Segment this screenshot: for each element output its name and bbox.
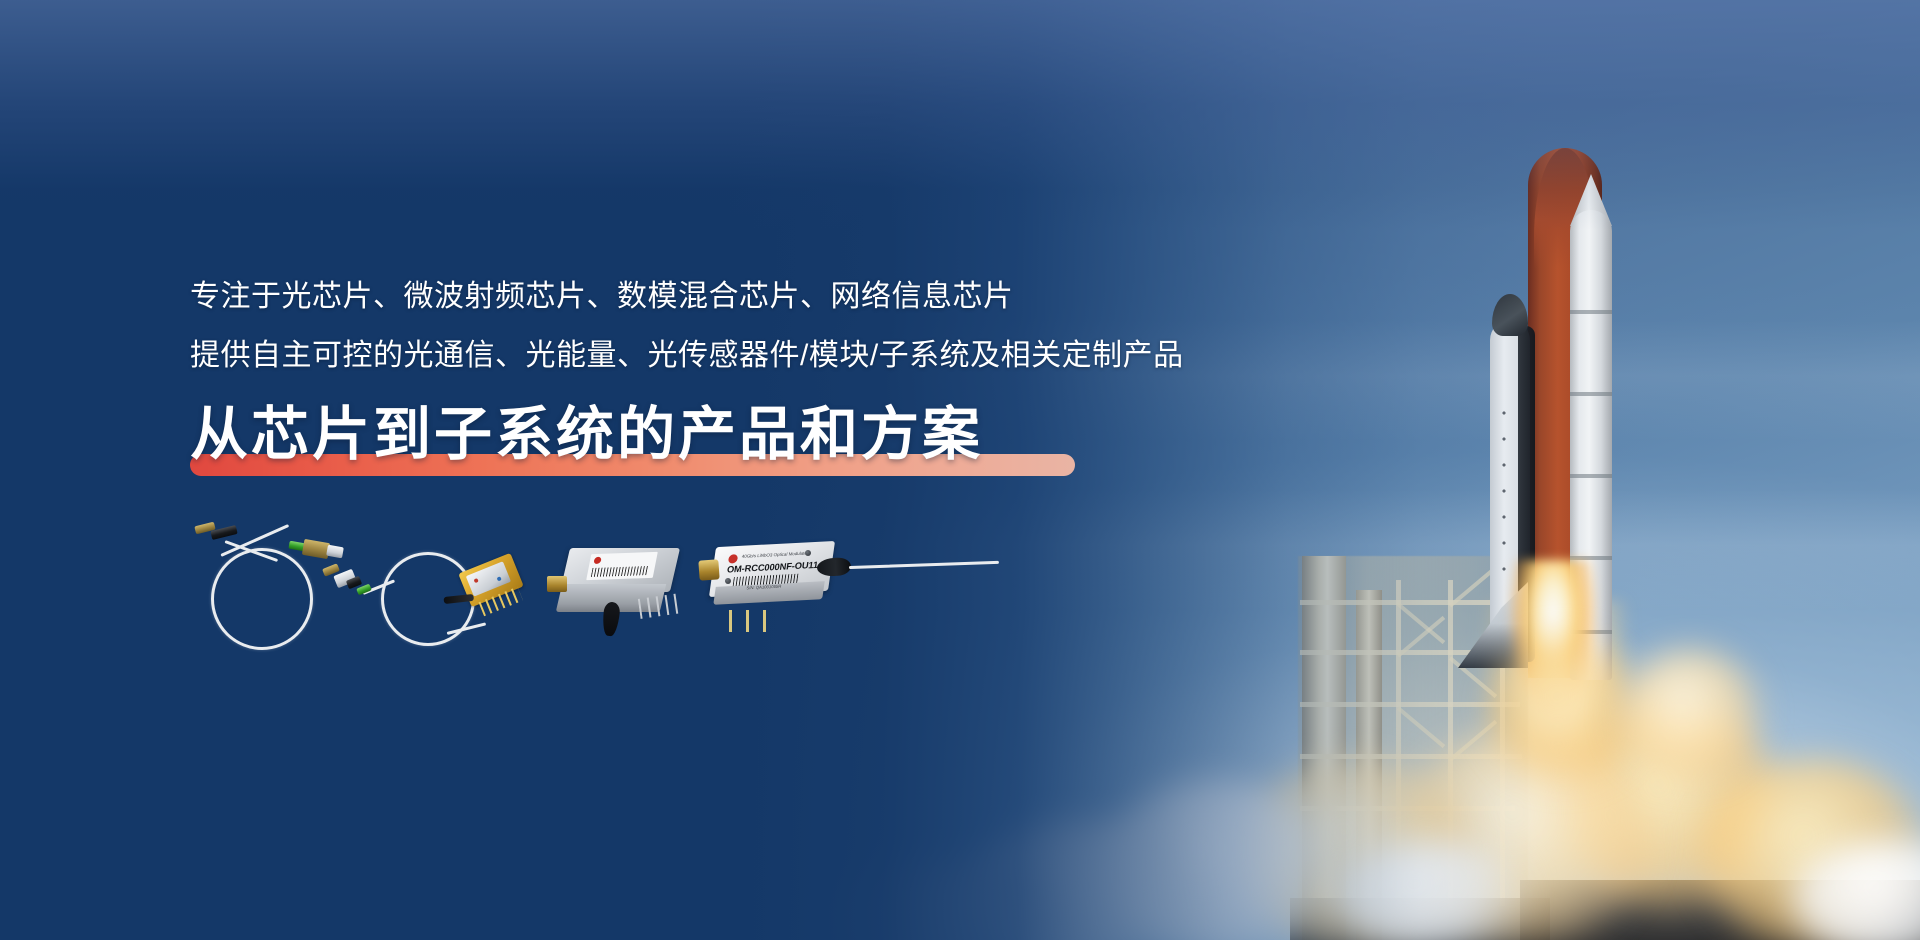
modulator-screw	[725, 578, 731, 584]
butterfly-package-laser	[458, 553, 523, 607]
modulator-label-subtitle: 40Gb/s LiNbO3 Optical Modulator	[742, 550, 809, 558]
product-showcase-row: 40Gb/s LiNbO3 Optical Modulator OM-RCC00…	[185, 520, 1015, 660]
hero-copy-block: 专注于光芯片、微波射频芯片、数模混合芯片、网络信息芯片 提供自主可控的光通信、光…	[190, 282, 1184, 478]
rf-label-barcode	[591, 566, 649, 577]
rf-metal-module	[559, 548, 677, 614]
headline-group: 从芯片到子系统的产品和方案	[190, 406, 983, 478]
optical-modulator: 40Gb/s LiNbO3 Optical Modulator OM-RCC00…	[713, 544, 853, 614]
modulator-fiber-boot	[816, 557, 851, 577]
modulator-output-fiber	[849, 561, 999, 569]
modulator-part-number: OM-RCC000NF-OU11	[726, 560, 819, 575]
modulator-label-logo	[728, 554, 738, 563]
rf-module-label	[586, 552, 658, 580]
fiber-coil	[211, 548, 313, 650]
rf-label-logo	[593, 557, 601, 564]
subline-secondary: 提供自主可控的光通信、光能量、光传感器件/模块/子系统及相关定制产品	[190, 341, 1184, 371]
modulator-pin-array	[729, 610, 775, 632]
page-title: 从芯片到子系统的产品和方案	[190, 406, 983, 464]
rf-sma-connector	[547, 576, 567, 592]
modulator-label: 40Gb/s LiNbO3 Optical Modulator OM-RCC00…	[724, 548, 828, 591]
hero-banner: 专注于光芯片、微波射频芯片、数模混合芯片、网络信息芯片 提供自主可控的光通信、光…	[0, 0, 1920, 940]
subline-primary: 专注于光芯片、微波射频芯片、数模混合芯片、网络信息芯片	[190, 282, 1184, 312]
fiber-connector-cap	[326, 545, 344, 559]
rf-pin-array	[638, 593, 682, 619]
modulator-screw	[805, 550, 811, 556]
modulator-rf-connector	[698, 559, 719, 580]
rf-fiber-boot	[601, 601, 620, 636]
fiber-connector-sc	[302, 539, 330, 559]
